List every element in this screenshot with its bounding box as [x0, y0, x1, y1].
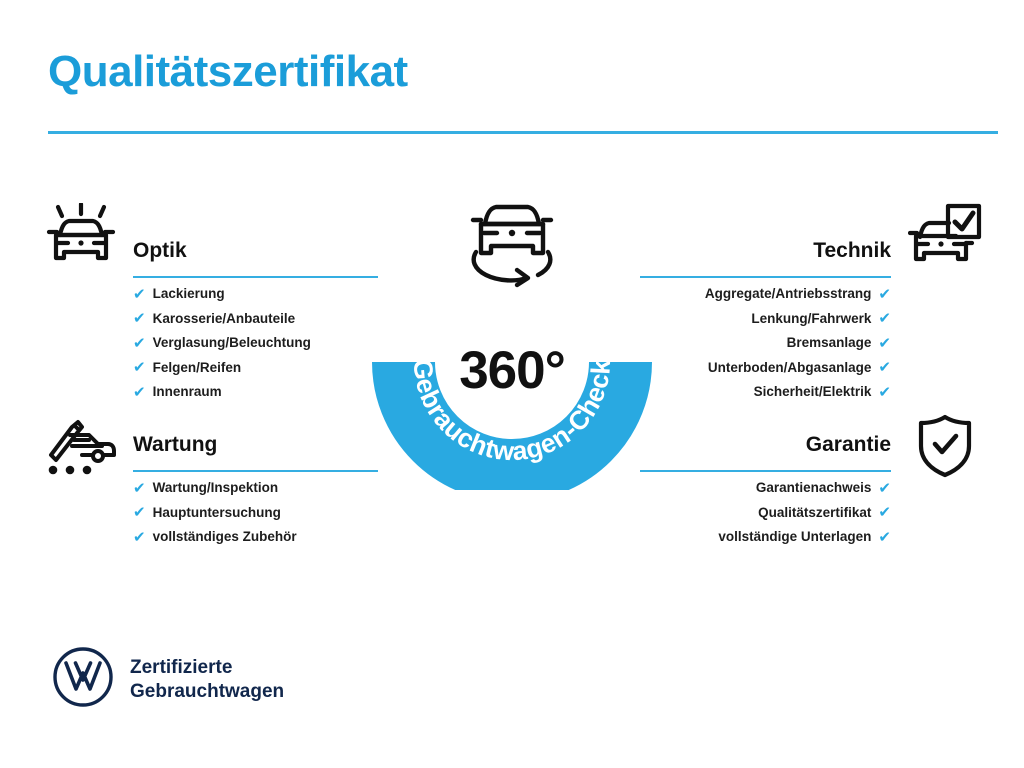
list-item-label: Karosserie/Anbauteile	[153, 307, 296, 332]
check-icon: ✔	[878, 287, 891, 302]
list-item: Qualitätszertifikat ✔	[640, 501, 891, 526]
vw-logo-text: Zertifizierte Gebrauchtwagen	[130, 656, 284, 704]
checklist-wartung: ✔ Wartung/Inspektion ✔ Hauptuntersuchung…	[133, 476, 378, 550]
vw-certified-logo: Zertifizierte Gebrauchtwagen	[52, 646, 284, 713]
list-item: ✔ Verglasung/Beleuchtung	[133, 331, 378, 356]
section-title-technik: Technik	[640, 236, 891, 266]
check-icon: ✔	[878, 505, 891, 520]
badge-degrees-label: 360°	[372, 344, 652, 397]
vw-logo-icon	[52, 646, 114, 713]
list-item: ✔ Innenraum	[133, 380, 378, 405]
list-item-label: Sicherheit/Elektrik	[754, 380, 872, 405]
check-icon: ✔	[133, 287, 146, 302]
section-divider-wartung	[133, 470, 378, 472]
section-technik: Technik Aggregate/Antriebsstrang ✔ Lenku…	[640, 236, 891, 405]
list-item: Aggregate/Antriebsstrang ✔	[640, 282, 891, 307]
list-item: Bremsanlage ✔	[640, 331, 891, 356]
car-service-wrench-icon	[44, 415, 118, 482]
vw-logo-line-1: Zertifizierte	[130, 656, 284, 680]
car-checkbox-icon	[908, 203, 982, 278]
list-item: Lenkung/Fahrwerk ✔	[640, 307, 891, 332]
section-title-optik: Optik	[133, 236, 378, 266]
list-item: ✔ Felgen/Reifen	[133, 356, 378, 381]
list-item-label: Innenraum	[153, 380, 222, 405]
checklist-garantie: Garantienachweis ✔ Qualitätszertifikat ✔…	[640, 476, 891, 550]
section-divider-optik	[133, 276, 378, 278]
list-item: ✔ Hauptuntersuchung	[133, 501, 378, 526]
list-item: ✔ Lackierung	[133, 282, 378, 307]
check-icon: ✔	[133, 336, 146, 351]
check-icon: ✔	[133, 311, 146, 326]
list-item-label: vollständige Unterlagen	[718, 525, 871, 550]
section-header-technik: Technik	[640, 236, 891, 282]
checklist-optik: ✔ Lackierung ✔ Karosserie/Anbauteile ✔ V…	[133, 282, 378, 405]
section-header-wartung: Wartung	[133, 430, 378, 476]
check-icon: ✔	[878, 481, 891, 496]
list-item: Garantienachweis ✔	[640, 476, 891, 501]
list-item-label: Garantienachweis	[756, 476, 872, 501]
section-divider-garantie	[640, 470, 891, 472]
list-item-label: Wartung/Inspektion	[153, 476, 279, 501]
car-shine-icon	[44, 203, 118, 278]
check-icon: ✔	[133, 530, 146, 545]
list-item: ✔ Karosserie/Anbauteile	[133, 307, 378, 332]
list-item: Sicherheit/Elektrik ✔	[640, 380, 891, 405]
list-item-label: Lackierung	[153, 282, 225, 307]
check-icon: ✔	[133, 481, 146, 496]
list-item: ✔ Wartung/Inspektion	[133, 476, 378, 501]
checklist-technik: Aggregate/Antriebsstrang ✔ Lenkung/Fahrw…	[640, 282, 891, 405]
list-item-label: Felgen/Reifen	[153, 356, 242, 381]
list-item-label: Lenkung/Fahrwerk	[751, 307, 871, 332]
list-item-label: vollständiges Zubehör	[153, 525, 297, 550]
section-title-wartung: Wartung	[133, 430, 378, 460]
check-icon: ✔	[878, 530, 891, 545]
list-item-label: Verglasung/Beleuchtung	[153, 331, 311, 356]
list-item: vollständige Unterlagen ✔	[640, 525, 891, 550]
section-optik: Optik ✔ Lackierung ✔ Karosserie/Anbautei…	[133, 236, 378, 405]
section-header-optik: Optik	[133, 236, 378, 282]
check-icon: ✔	[133, 360, 146, 375]
section-title-garantie: Garantie	[640, 430, 891, 460]
list-item: ✔ vollständiges Zubehör	[133, 525, 378, 550]
list-item-label: Qualitätszertifikat	[758, 501, 871, 526]
list-item-label: Bremsanlage	[787, 331, 872, 356]
list-item-label: Unterboden/Abgasanlage	[708, 356, 872, 381]
check-icon: ✔	[878, 336, 891, 351]
list-item-label: Hauptuntersuchung	[153, 501, 281, 526]
page-title: Qualitätszertifikat	[48, 48, 408, 96]
shield-check-icon	[916, 414, 974, 483]
check-icon: ✔	[133, 505, 146, 520]
certificate-page: Qualitätszertifikat	[0, 0, 1024, 768]
360-gebrauchtwagen-check-badge: Gebrauchtwagen-Check 360°	[372, 190, 652, 490]
section-wartung: Wartung ✔ Wartung/Inspektion ✔ Hauptunte…	[133, 430, 378, 550]
list-item-label: Aggregate/Antriebsstrang	[705, 282, 872, 307]
vw-logo-line-2: Gebrauchtwagen	[130, 680, 284, 704]
check-icon: ✔	[878, 311, 891, 326]
section-header-garantie: Garantie	[640, 430, 891, 476]
list-item: Unterboden/Abgasanlage ✔	[640, 356, 891, 381]
header-divider	[48, 131, 998, 134]
section-divider-technik	[640, 276, 891, 278]
check-icon: ✔	[133, 385, 146, 400]
check-icon: ✔	[878, 385, 891, 400]
section-garantie: Garantie Garantienachweis ✔ Qualitätszer…	[640, 430, 891, 550]
check-icon: ✔	[878, 360, 891, 375]
